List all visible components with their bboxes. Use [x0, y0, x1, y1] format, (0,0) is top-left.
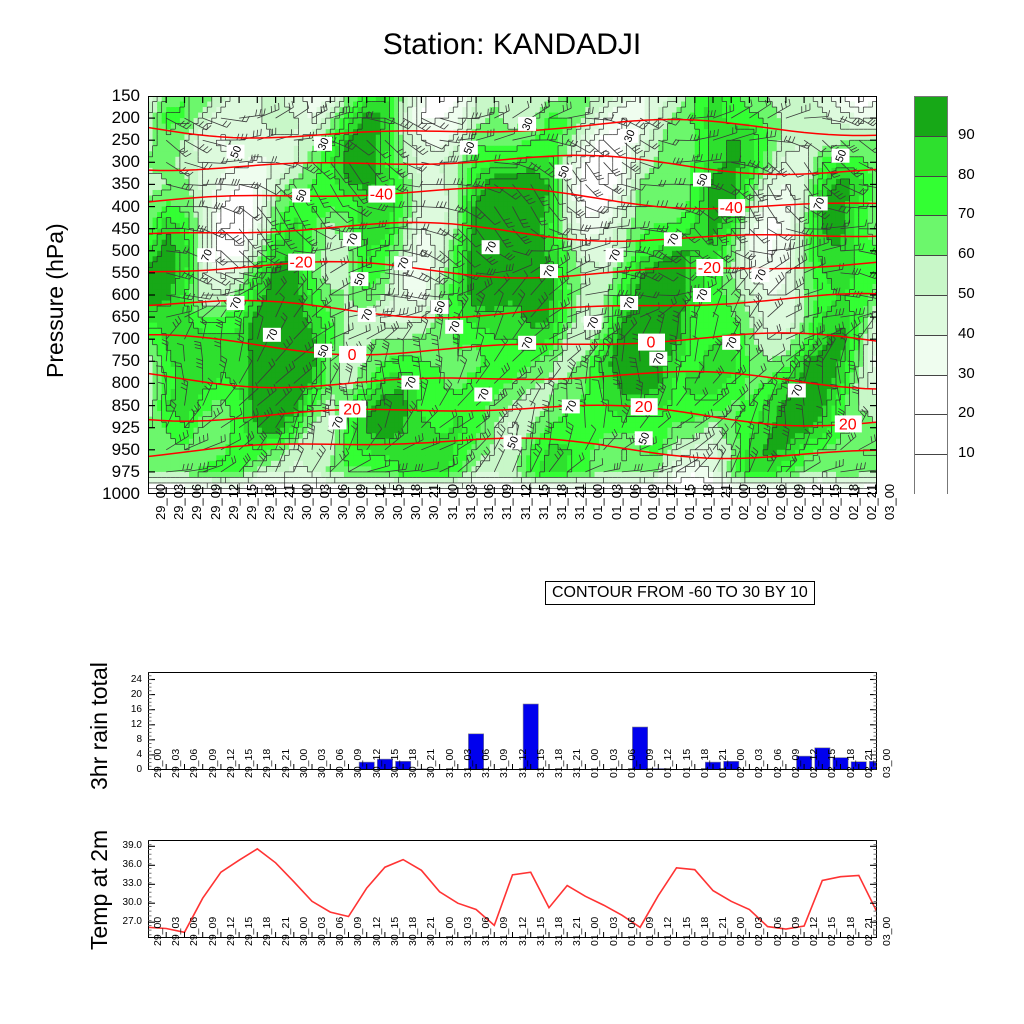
humidity-cell: [244, 124, 249, 130]
humidity-cell: [294, 107, 299, 113]
humidity-cell: [257, 168, 262, 174]
humidity-cell: [440, 190, 445, 196]
humidity-cell: [235, 433, 240, 439]
humidity-cell: [412, 306, 417, 312]
humidity-cell: [166, 389, 171, 395]
humidity-cell: [157, 345, 162, 351]
humidity-cell: [412, 361, 417, 367]
humidity-cell: [180, 157, 185, 163]
humidity-cell: [303, 212, 308, 218]
humidity-cell: [175, 444, 180, 450]
humidity-cell: [344, 118, 349, 124]
humidity-cell: [298, 345, 303, 351]
humidity-cell: [225, 124, 230, 130]
humidity-cell: [430, 455, 435, 461]
humidity-cell: [471, 361, 476, 367]
humidity-cell: [321, 466, 326, 472]
humidity-cell: [253, 450, 258, 456]
humidity-cell: [344, 184, 349, 190]
humidity-cell: [389, 251, 394, 257]
humidity-cell: [285, 378, 290, 384]
humidity-cell: [403, 455, 408, 461]
humidity-cell: [230, 406, 235, 412]
humidity-cell: [194, 389, 199, 395]
humidity-cell: [421, 411, 426, 417]
humidity-cell: [435, 196, 440, 202]
humidity-cell: [294, 289, 299, 295]
humidity-cell: [298, 151, 303, 157]
humidity-cell: [421, 439, 426, 445]
humidity-cell: [262, 389, 267, 395]
humidity-cell: [394, 422, 399, 428]
humidity-cell: [307, 140, 312, 146]
humidity-cell: [157, 234, 162, 240]
humidity-cell: [353, 389, 358, 395]
humidity-cell: [321, 289, 326, 295]
humidity-cell: [303, 455, 308, 461]
humidity-cell: [380, 306, 385, 312]
humidity-cell: [467, 466, 472, 472]
humidity-cell: [376, 395, 381, 401]
humidity-cell: [157, 273, 162, 279]
humidity-cell: [230, 395, 235, 401]
humidity-cell: [153, 328, 158, 334]
humidity-cell: [312, 295, 317, 301]
humidity-cell: [276, 395, 281, 401]
humidity-cell: [399, 306, 404, 312]
humidity-cell: [430, 201, 435, 207]
humidity-cell: [280, 306, 285, 312]
humidity-cell: [207, 113, 212, 119]
humidity-cell: [358, 289, 363, 295]
humidity-cell: [225, 317, 230, 323]
humidity-cell: [458, 395, 463, 401]
humidity-cell: [335, 273, 340, 279]
humidity-cell: [430, 383, 435, 389]
humidity-cell: [153, 173, 158, 179]
humidity-cell: [262, 129, 267, 135]
humidity-cell: [253, 461, 258, 467]
humidity-cell: [216, 428, 221, 434]
humidity-cell: [207, 190, 212, 196]
humidity-cell: [253, 301, 258, 307]
humidity-cell: [289, 278, 294, 284]
humidity-cell: [157, 140, 162, 146]
humidity-cell: [444, 417, 449, 423]
humidity-cell: [157, 201, 162, 207]
humidity-cell: [257, 201, 262, 207]
humidity-cell: [162, 190, 167, 196]
humidity-cell: [358, 140, 363, 146]
humidity-cell: [471, 295, 476, 301]
humidity-cell: [435, 157, 440, 163]
humidity-cell: [248, 312, 253, 318]
humidity-cell: [412, 450, 417, 456]
humidity-cell: [471, 196, 476, 202]
humidity-cell: [371, 455, 376, 461]
humidity-cell: [353, 339, 358, 345]
humidity-cell: [467, 229, 472, 235]
humidity-cell: [175, 356, 180, 362]
humidity-cell: [189, 218, 194, 224]
humidity-cell: [203, 284, 208, 290]
humidity-cell: [444, 284, 449, 290]
humidity-cell: [376, 406, 381, 412]
humidity-cell: [453, 196, 458, 202]
humidity-cell: [449, 212, 454, 218]
humidity-cell: [180, 411, 185, 417]
humidity-cell: [198, 212, 203, 218]
humidity-cell: [189, 345, 194, 351]
humidity-cell: [298, 361, 303, 367]
humidity-cell: [453, 439, 458, 445]
humidity-cell: [157, 383, 162, 389]
humidity-cell: [467, 444, 472, 450]
humidity-cell: [285, 140, 290, 146]
humidity-cell: [449, 201, 454, 207]
humidity-cell: [444, 361, 449, 367]
humidity-cell: [435, 118, 440, 124]
humidity-cell: [371, 240, 376, 246]
humidity-cell: [376, 295, 381, 301]
humidity-cell: [376, 284, 381, 290]
humidity-cell: [203, 345, 208, 351]
humidity-cell: [339, 367, 344, 373]
humidity-cell: [440, 212, 445, 218]
humidity-cell: [394, 367, 399, 373]
humidity-cell: [426, 428, 431, 434]
humidity-cell: [440, 455, 445, 461]
humidity-cell: [221, 312, 226, 318]
humidity-cell: [339, 295, 344, 301]
humidity-cell: [162, 135, 167, 141]
humidity-cell: [271, 284, 276, 290]
humidity-cell: [399, 196, 404, 202]
humidity-cell: [175, 383, 180, 389]
humidity-cell: [435, 389, 440, 395]
humidity-cell: [216, 157, 221, 163]
humidity-cell: [294, 295, 299, 301]
humidity-cell: [362, 173, 367, 179]
humidity-cell: [408, 284, 413, 290]
humidity-cell: [344, 372, 349, 378]
humidity-cell: [189, 350, 194, 356]
humidity-cell: [430, 223, 435, 229]
humidity-cell: [367, 389, 372, 395]
humidity-cell: [440, 350, 445, 356]
humidity-cell: [371, 461, 376, 467]
humidity-cell: [189, 383, 194, 389]
humidity-cell: [307, 450, 312, 456]
humidity-cell: [312, 455, 317, 461]
humidity-cell: [303, 140, 308, 146]
humidity-cell: [253, 439, 258, 445]
humidity-cell: [312, 428, 317, 434]
humidity-cell: [248, 118, 253, 124]
humidity-cell: [376, 455, 381, 461]
humidity-cell: [307, 461, 312, 467]
humidity-cell: [157, 135, 162, 141]
humidity-cell: [276, 361, 281, 367]
humidity-cell: [257, 450, 262, 456]
humidity-cell: [225, 367, 230, 373]
humidity-cell: [166, 395, 171, 401]
humidity-cell: [371, 323, 376, 329]
humidity-cell: [207, 395, 212, 401]
humidity-cell: [212, 450, 217, 456]
humidity-cell: [194, 229, 199, 235]
humidity-cell: [203, 450, 208, 456]
humidity-cell: [307, 389, 312, 395]
humidity-cell: [353, 328, 358, 334]
humidity-cell: [166, 267, 171, 273]
humidity-cell: [184, 406, 189, 412]
humidity-cell: [462, 284, 467, 290]
humidity-cell: [376, 256, 381, 262]
humidity-cell: [166, 383, 171, 389]
humidity-cell: [280, 356, 285, 362]
humidity-cell: [180, 389, 185, 395]
humidity-cell: [166, 450, 171, 456]
humidity-cell: [471, 256, 476, 262]
humidity-cell: [449, 450, 454, 456]
humidity-cell: [230, 334, 235, 340]
humidity-cell: [399, 406, 404, 412]
humidity-cell: [312, 107, 317, 113]
humidity-cell: [276, 317, 281, 323]
humidity-cell: [262, 356, 267, 362]
humidity-cell: [244, 411, 249, 417]
humidity-cell: [339, 273, 344, 279]
humidity-cell: [180, 328, 185, 334]
humidity-cell: [203, 372, 208, 378]
humidity-cell: [326, 229, 331, 235]
humidity-cell: [162, 284, 167, 290]
humidity-cell: [175, 466, 180, 472]
humidity-cell: [380, 146, 385, 152]
humidity-cell: [449, 113, 454, 119]
humidity-cell: [426, 207, 431, 213]
humidity-cell: [389, 317, 394, 323]
humidity-cell: [171, 455, 176, 461]
humidity-cell: [426, 389, 431, 395]
humidity-cell: [289, 146, 294, 152]
humidity-cell: [239, 361, 244, 367]
humidity-cell: [430, 367, 435, 373]
humidity-cell: [471, 118, 476, 124]
humidity-cell: [426, 184, 431, 190]
humidity-cell: [239, 461, 244, 467]
humidity-cell: [294, 400, 299, 406]
humidity-cell: [471, 168, 476, 174]
humidity-cell: [344, 151, 349, 157]
humidity-cell: [371, 278, 376, 284]
humidity-cell: [212, 367, 217, 373]
humidity-cell: [166, 190, 171, 196]
humidity-cell: [162, 411, 167, 417]
humidity-cell: [175, 461, 180, 467]
humidity-cell: [380, 251, 385, 257]
humidity-cell: [157, 179, 162, 185]
humidity-cell: [317, 273, 322, 279]
humidity-cell: [376, 124, 381, 130]
humidity-cell: [380, 417, 385, 423]
humidity-cell: [426, 367, 431, 373]
humidity-cell: [339, 251, 344, 257]
humidity-cell: [476, 107, 481, 113]
humidity-cell: [280, 284, 285, 290]
humidity-cell: [471, 417, 476, 423]
humidity-cell: [321, 395, 326, 401]
humidity-cell: [321, 184, 326, 190]
humidity-cell: [335, 455, 340, 461]
humidity-cell: [380, 229, 385, 235]
humidity-cell: [294, 372, 299, 378]
humidity-cell: [385, 433, 390, 439]
humidity-cell: [244, 406, 249, 412]
humidity-cell: [453, 306, 458, 312]
humidity-cell: [317, 234, 322, 240]
humidity-cell: [285, 461, 290, 467]
humidity-cell: [189, 162, 194, 168]
humidity-cell: [444, 350, 449, 356]
humidity-cell: [180, 218, 185, 224]
humidity-cell: [476, 201, 481, 207]
humidity-cell: [321, 422, 326, 428]
humidity-cell: [385, 328, 390, 334]
humidity-cell: [317, 411, 322, 417]
humidity-cell: [339, 218, 344, 224]
humidity-cell: [298, 124, 303, 130]
humidity-cell: [162, 439, 167, 445]
humidity-cell: [303, 240, 308, 246]
humidity-cell: [257, 395, 262, 401]
humidity-cell: [348, 157, 353, 163]
humidity-cell: [444, 118, 449, 124]
humidity-cell: [235, 389, 240, 395]
humidity-cell: [362, 140, 367, 146]
humidity-cell: [412, 234, 417, 240]
humidity-cell: [289, 140, 294, 146]
humidity-cell: [399, 301, 404, 307]
humidity-cell: [476, 190, 481, 196]
humidity-cell: [417, 284, 422, 290]
humidity-cell: [189, 146, 194, 152]
humidity-cell: [408, 428, 413, 434]
humidity-cell: [303, 113, 308, 119]
humidity-cell: [376, 306, 381, 312]
humidity-cell: [180, 162, 185, 168]
humidity-cell: [412, 284, 417, 290]
humidity-cell: [339, 102, 344, 108]
humidity-cell: [298, 157, 303, 163]
humidity-cell: [412, 289, 417, 295]
humidity-cell: [326, 450, 331, 456]
humidity-cell: [184, 356, 189, 362]
humidity-cell: [175, 406, 180, 412]
humidity-cell: [253, 118, 258, 124]
humidity-cell: [321, 113, 326, 119]
humidity-cell: [271, 173, 276, 179]
humidity-cell: [184, 140, 189, 146]
humidity-cell: [285, 406, 290, 412]
humidity-cell: [225, 455, 230, 461]
humidity-cell: [303, 207, 308, 213]
humidity-cell: [153, 262, 158, 268]
humidity-cell: [421, 184, 426, 190]
humidity-cell: [198, 428, 203, 434]
humidity-cell: [467, 428, 472, 434]
humidity-cell: [166, 151, 171, 157]
humidity-cell: [367, 168, 372, 174]
humidity-cell: [285, 444, 290, 450]
humidity-cell: [435, 284, 440, 290]
humidity-cell: [189, 395, 194, 401]
humidity-cell: [216, 389, 221, 395]
humidity-cell: [207, 129, 212, 135]
humidity-cell: [417, 107, 422, 113]
humidity-cell: [394, 417, 399, 423]
humidity-cell: [153, 278, 158, 284]
humidity-cell: [403, 361, 408, 367]
humidity-cell: [266, 378, 271, 384]
humidity-cell: [184, 190, 189, 196]
humidity-cell: [184, 411, 189, 417]
humidity-cell: [175, 173, 180, 179]
humidity-cell: [253, 345, 258, 351]
humidity-cell: [462, 179, 467, 185]
humidity-cell: [294, 179, 299, 185]
humidity-cell: [426, 135, 431, 141]
humidity-cell: [230, 118, 235, 124]
humidity-cell: [212, 146, 217, 152]
humidity-cell: [394, 179, 399, 185]
humidity-cell: [421, 173, 426, 179]
humidity-cell: [289, 207, 294, 213]
humidity-cell: [244, 102, 249, 108]
humidity-cell: [230, 466, 235, 472]
humidity-cell: [408, 417, 413, 423]
humidity-cell: [317, 179, 322, 185]
humidity-cell: [198, 284, 203, 290]
humidity-cell: [266, 356, 271, 362]
humidity-cell: [467, 383, 472, 389]
humidity-cell: [467, 422, 472, 428]
humidity-cell: [225, 334, 230, 340]
humidity-cell: [389, 234, 394, 240]
humidity-cell: [344, 433, 349, 439]
humidity-cell: [362, 118, 367, 124]
humidity-cell: [271, 140, 276, 146]
humidity-cell: [426, 339, 431, 345]
humidity-cell: [212, 184, 217, 190]
humidity-cell: [353, 367, 358, 373]
humidity-cell: [271, 395, 276, 401]
humidity-cell: [271, 273, 276, 279]
humidity-cell: [412, 278, 417, 284]
humidity-cell: [353, 124, 358, 130]
humidity-cell: [171, 212, 176, 218]
humidity-cell: [426, 168, 431, 174]
humidity-cell: [230, 124, 235, 130]
humidity-cell: [153, 439, 158, 445]
humidity-cell: [194, 317, 199, 323]
humidity-cell: [399, 162, 404, 168]
humidity-cell: [157, 295, 162, 301]
humidity-cell: [175, 179, 180, 185]
humidity-cell: [171, 234, 176, 240]
humidity-cell: [312, 218, 317, 224]
